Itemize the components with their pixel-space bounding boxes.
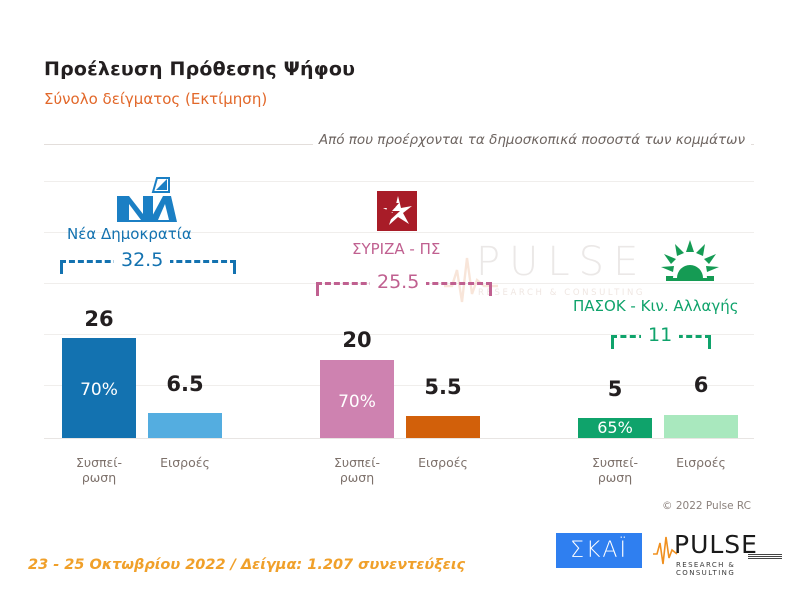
bar-syriza-inflow <box>406 416 480 438</box>
bar-value-nd-inflow: 6.5 <box>148 372 222 396</box>
axis-baseline <box>44 438 754 439</box>
pasok-logo <box>661 240 719 286</box>
bar-value-syriza-inflow: 5.5 <box>406 375 480 399</box>
axis-label-pasok-loyalty: Συσπεί- ρωση <box>578 455 652 485</box>
axis-label-nd-loyalty: Συσπεί- ρωση <box>62 455 136 485</box>
skai-logo: ΣΚΑΪ <box>556 533 642 568</box>
bar-nd-loyalty: 70% <box>62 338 136 438</box>
lead-annotation: Από που προέρχονται τα δημοσκοπικά ποσοσ… <box>313 132 751 148</box>
bar-value-nd-loyalty: 26 <box>62 307 136 331</box>
fieldwork-dates: 23 - 25 Οκτωβρίου 2022 / Δείγμα: 1.207 σ… <box>28 557 465 573</box>
bar-value-pasok-loyalty: 5 <box>578 377 652 401</box>
axis-label-line2: ρωση <box>82 470 116 485</box>
pulse-logo-bars <box>748 554 782 559</box>
bar-syriza-loyalty: 70% <box>320 360 394 438</box>
infographic-canvas: Προέλευση Πρόθεσης Ψήφου Σύνολο δείγματο… <box>0 0 799 590</box>
bar-value-pasok-inflow: 6 <box>664 373 738 397</box>
total-value-nd: 32.5 <box>114 250 170 270</box>
pulse-logo: PULSE RESEARCH & CONSULTING <box>652 532 784 570</box>
syriza-logo <box>377 191 417 235</box>
axis-label-line2: ρωση <box>340 470 374 485</box>
axis-label-syriza-inflow: Εισροές <box>406 455 480 470</box>
bar-value-syriza-loyalty: 20 <box>320 328 394 352</box>
bar-pasok-loyalty: 65% <box>578 418 652 438</box>
axis-label-syriza-loyalty: Συσπεί- ρωση <box>320 455 394 485</box>
axis-label-line1: Συσπεί- <box>76 455 122 470</box>
party-name-nd: Νέα Δημοκρατία <box>67 225 192 243</box>
total-value-pasok: 11 <box>641 325 679 345</box>
waveform-icon <box>440 246 500 316</box>
page-title: Προέλευση Πρόθεσης Ψήφου <box>44 58 355 80</box>
axis-label-nd-inflow: Εισροές <box>148 455 222 470</box>
bar-pct-pasok-loyalty: 65% <box>578 418 652 437</box>
watermark-word: PULSE <box>476 242 647 282</box>
party-name-syriza: ΣΥΡΙΖΑ - ΠΣ <box>352 240 440 258</box>
bar-nd-inflow <box>148 413 222 438</box>
bar-pasok-inflow <box>664 415 738 438</box>
page-subtitle: Σύνολο δείγματος (Εκτίμηση) <box>44 90 267 108</box>
pulse-logo-text: PULSE <box>674 532 758 558</box>
nd-logo <box>113 176 181 230</box>
axis-label-pasok-inflow: Εισροές <box>664 455 738 470</box>
party-name-pasok: ΠΑΣΟΚ - Κιν. Αλλαγής <box>573 297 739 315</box>
pulse-tagline: RESEARCH & CONSULTING <box>676 561 784 577</box>
copyright-text: © 2022 Pulse RC <box>662 500 751 512</box>
axis-label-line1: Συσπεί- <box>334 455 380 470</box>
skai-logo-text: ΣΚΑΪ <box>570 540 628 562</box>
axis-label-line2: ρωση <box>598 470 632 485</box>
total-value-syriza: 25.5 <box>370 272 426 292</box>
bar-pct-syriza-loyalty: 70% <box>320 392 394 412</box>
axis-label-line1: Συσπεί- <box>592 455 638 470</box>
bar-pct-nd-loyalty: 70% <box>62 380 136 400</box>
